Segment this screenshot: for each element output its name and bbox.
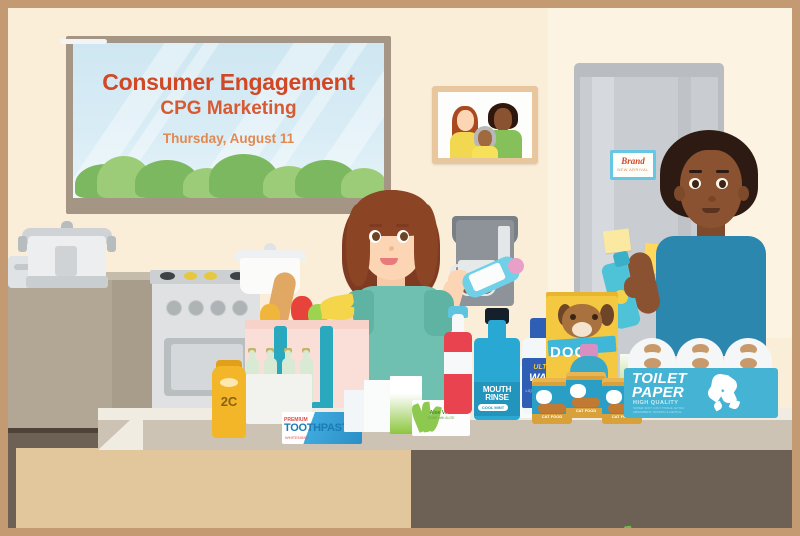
magnet-face: Brand NEW ARRIVAL — [613, 153, 653, 177]
cooker-handle — [107, 236, 116, 252]
grocery-bag-fold — [245, 320, 369, 329]
dog-ear — [600, 304, 614, 326]
cat-icon — [570, 384, 586, 398]
toothpaste-name: TOOTHPASTE — [284, 422, 346, 434]
photo-mom-face — [457, 110, 474, 131]
woman-hair-top — [354, 190, 430, 236]
cooker-control-panel[interactable] — [55, 246, 77, 276]
catfood-name: CAT FOOD — [566, 408, 606, 413]
can-food-image — [572, 398, 600, 407]
aloe-soap-sub: SOAP with ALOE — [412, 416, 470, 420]
dog-muzzle — [572, 322, 592, 337]
man-hand — [624, 276, 648, 298]
woman-pupil — [400, 232, 408, 241]
stove-knob[interactable] — [166, 300, 182, 316]
cooker-handle — [18, 236, 27, 252]
stove-knob[interactable] — [232, 300, 248, 316]
magnet-subtitle: NEW ARRIVAL — [613, 167, 653, 172]
stove-knob[interactable] — [210, 300, 226, 316]
photo-child-face — [478, 130, 492, 147]
banner-title: Consumer Engagement — [73, 70, 384, 96]
cat-icon — [536, 390, 552, 404]
man-mouth — [702, 208, 720, 213]
illustration-scene: Consumer Engagement CPG Marketing Thursd… — [0, 0, 800, 536]
stove-burner-lit — [204, 272, 217, 280]
man-eyebrow — [689, 170, 702, 173]
cleaner-label — [444, 352, 472, 374]
mouthrinse-name: MOUTH RINSE — [474, 386, 520, 402]
cat-icon — [606, 390, 622, 404]
stove-burner — [160, 272, 175, 280]
window-icon: Consumer Engagement CPG Marketing Thursd… — [66, 36, 391, 214]
fridge-handle — [60, 39, 107, 44]
event-banner: Consumer Engagement CPG Marketing Thursd… — [73, 70, 384, 146]
sticky-note — [603, 228, 631, 253]
man-pupil — [719, 180, 726, 188]
photo-dad-face — [494, 108, 512, 131]
woman-nose — [389, 246, 394, 251]
dog-eye — [592, 314, 598, 320]
woman-eyebrow — [396, 224, 409, 227]
toothpaste-sub: WHITENING — [285, 435, 325, 440]
bag-handle — [320, 326, 333, 414]
man-nose — [708, 196, 716, 202]
woman-eyebrow — [369, 224, 382, 227]
family-photo-icon — [432, 86, 538, 164]
toilet-paper-desc: SUPER SOFT 3-PLY TISSUE. EXTRA ABSORBENT… — [633, 407, 703, 415]
brand-magnet: Brand NEW ARRIVAL — [610, 150, 656, 180]
floor-front — [16, 448, 411, 528]
cooker-base — [26, 276, 108, 288]
banner-subtitle: CPG Marketing — [73, 97, 384, 121]
man-pupil — [692, 180, 699, 188]
kitchen-scene: Consumer Engagement CPG Marketing Thursd… — [8, 8, 792, 528]
dog-eye — [570, 314, 576, 320]
woman-pupil — [372, 232, 380, 241]
photo-child-body — [472, 146, 498, 158]
man-eyebrow — [716, 170, 729, 173]
white-box-product — [344, 390, 366, 432]
toilet-paper-name: TOILET PAPER — [632, 372, 712, 401]
can-food-image — [538, 404, 566, 413]
sunscreen-label: 2C — [212, 394, 246, 409]
stove-knob[interactable] — [188, 300, 204, 316]
mouthrinse-flavor: COOL MINT — [478, 404, 508, 411]
man-ear — [674, 186, 685, 201]
magnet-title: Brand — [613, 156, 653, 166]
man-face — [680, 150, 742, 228]
sunscreen-logo — [220, 378, 238, 387]
man-ear — [738, 186, 749, 201]
banner-date: Thursday, August 11 — [73, 131, 384, 146]
photo-content — [438, 92, 532, 158]
stove-burner-lit — [184, 272, 197, 280]
